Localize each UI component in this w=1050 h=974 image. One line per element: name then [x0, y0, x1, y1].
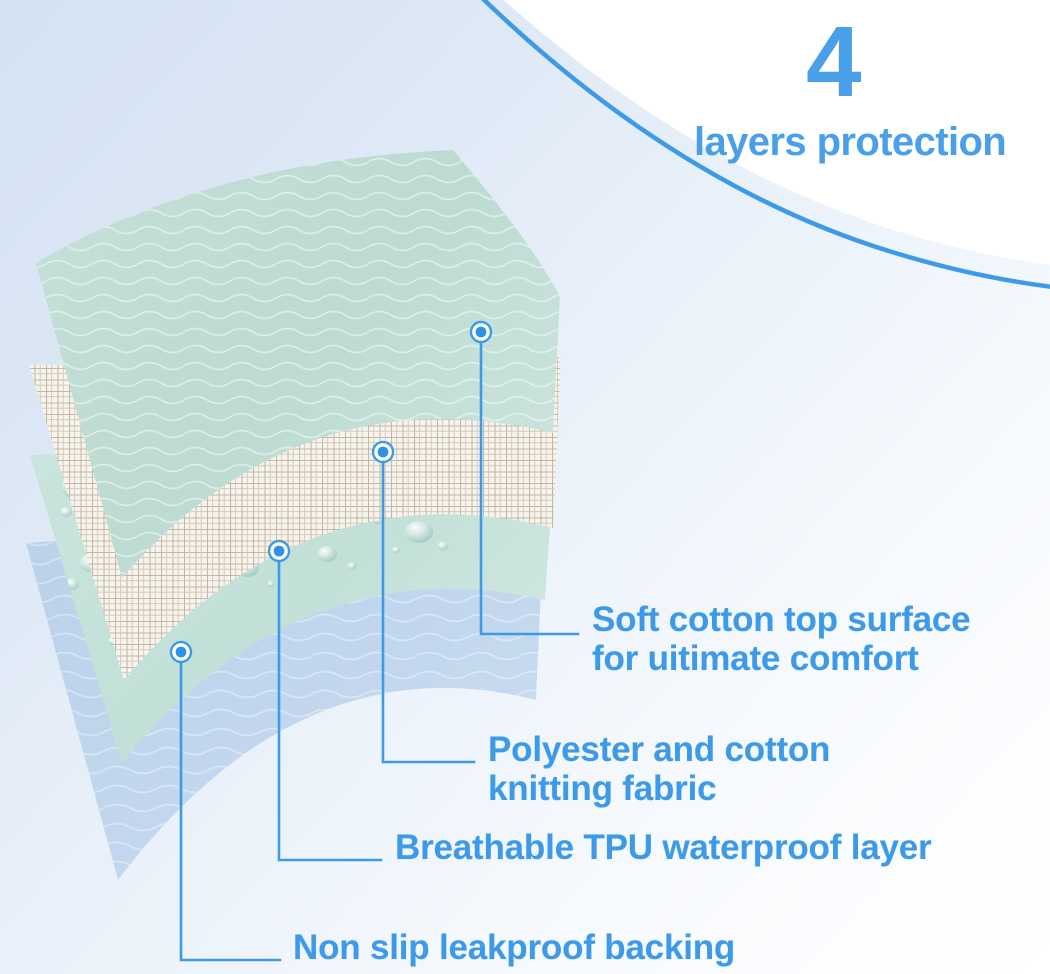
marker-tpu [269, 541, 289, 561]
callout-label-breathable-tpu-waterproof-layer: Breathable TPU waterproof layer [395, 828, 931, 867]
marker-polyester [373, 442, 393, 462]
callout-label-soft-cotton-top-surface: Soft cotton top surface for uitimate com… [592, 600, 970, 678]
callout-label-non-slip-leakproof-backing: Non slip leakproof backing [293, 928, 735, 967]
layer-count-number: 4 [806, 12, 860, 112]
callout-label-polyester-cotton-knitting-fabric: Polyester and cotton knitting fabric [488, 730, 830, 808]
marker-soft-cotton [471, 322, 491, 342]
marker-backing [171, 642, 191, 662]
infographic-canvas: 4 layers protection Soft cotton top surf… [0, 0, 1050, 974]
layer-count-subtitle: layers protection [694, 122, 1006, 162]
